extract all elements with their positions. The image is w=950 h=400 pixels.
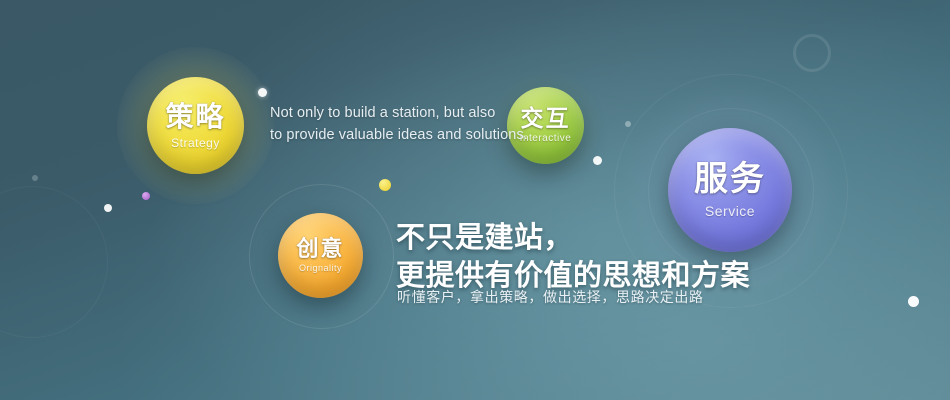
english-tagline-line2: to provide valuable ideas and solutions. — [270, 125, 530, 147]
bubble-service-cn-label: 服务 — [694, 162, 766, 196]
dot-grey-mid — [625, 121, 631, 127]
english-tagline-line1: Not only to build a station, but also — [270, 103, 530, 125]
bubble-originality-cn-label: 创意 — [296, 238, 344, 260]
bubble-service-en-label: Service — [705, 204, 755, 218]
hero-banner: 策略 Strategy 交互 Interactive 创意 Orignality… — [0, 0, 950, 400]
bubble-originality-en-label: Orignality — [299, 264, 342, 273]
dot-purple-left — [142, 192, 150, 200]
dot-white-top — [258, 88, 267, 97]
dot-white-right — [908, 296, 919, 307]
dot-white-mid — [593, 156, 602, 165]
dot-yellow-mid — [379, 179, 391, 191]
subtitle: 听懂客户，拿出策略，做出选择，思路决定出路 — [397, 287, 704, 307]
page-title: 不只是建站， 更提供有价值的思想和方案 — [396, 219, 750, 296]
bubble-originality[interactable]: 创意 Orignality — [278, 213, 363, 298]
decor-ring-top-right — [793, 34, 831, 72]
dot-white-left — [104, 204, 112, 212]
english-tagline: Not only to build a station, but also to… — [270, 103, 530, 147]
bubble-strategy-en-label: Strategy — [171, 137, 220, 149]
headline-line1: 不只是建站， — [396, 219, 750, 257]
decor-ring-left-faint — [0, 186, 108, 338]
dot-grey-left — [32, 175, 38, 181]
bubble-strategy-cn-label: 策略 — [165, 103, 225, 131]
bubble-strategy[interactable]: 策略 Strategy — [147, 77, 244, 174]
